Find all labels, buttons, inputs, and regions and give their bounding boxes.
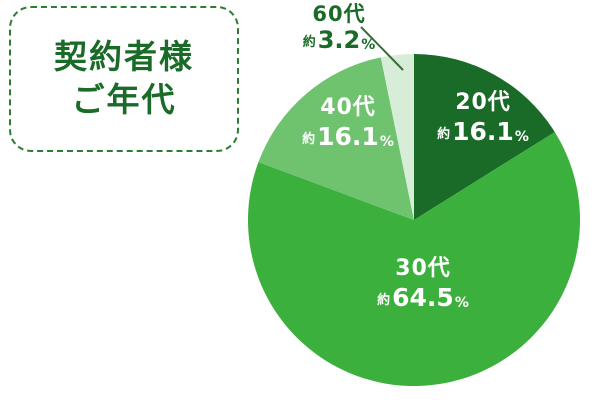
slice-label-60dai-age: 60代 — [283, 4, 395, 25]
slice-label-30dai-age: 30代 — [348, 258, 498, 280]
slice-label-20dai-value: 約16.1% — [423, 119, 543, 144]
approx-prefix: 約 — [302, 132, 315, 147]
slice-label-20dai: 20代 約16.1% — [423, 92, 543, 144]
infographic-canvas: 契約者様 ご年代 20代 約16.1% 30代 約64.5% 40代 約16.1… — [0, 0, 600, 400]
percent-suffix: % — [455, 295, 469, 311]
slice-label-40dai: 40代 約16.1% — [288, 97, 408, 149]
approx-prefix: 約 — [303, 35, 316, 50]
slice-label-20dai-number: 16.1 — [452, 117, 514, 146]
title-text-group: 契約者様 ご年代 — [11, 8, 237, 150]
slice-label-30dai-value: 約64.5% — [348, 285, 498, 310]
title-callout-box: 契約者様 ご年代 — [9, 6, 239, 152]
slice-label-60dai-value: 約3.2% — [283, 28, 395, 52]
slice-label-40dai-value: 約16.1% — [288, 124, 408, 149]
slice-label-60dai-number: 3.2 — [318, 26, 361, 54]
percent-suffix: % — [380, 134, 394, 150]
approx-prefix: 約 — [377, 293, 390, 308]
slice-label-30dai: 30代 約64.5% — [348, 258, 498, 310]
page-title-line-2: ご年代 — [72, 81, 177, 120]
percent-suffix: % — [515, 129, 529, 145]
slice-label-40dai-age: 40代 — [288, 97, 408, 119]
slice-label-60dai: 60代 約3.2% — [283, 4, 395, 52]
approx-prefix: 約 — [437, 127, 450, 142]
percent-suffix: % — [361, 37, 375, 53]
slice-label-40dai-number: 16.1 — [317, 122, 379, 151]
slice-label-30dai-number: 64.5 — [392, 283, 454, 312]
slice-label-20dai-age: 20代 — [423, 92, 543, 114]
page-title-line-1: 契約者様 — [54, 38, 194, 77]
